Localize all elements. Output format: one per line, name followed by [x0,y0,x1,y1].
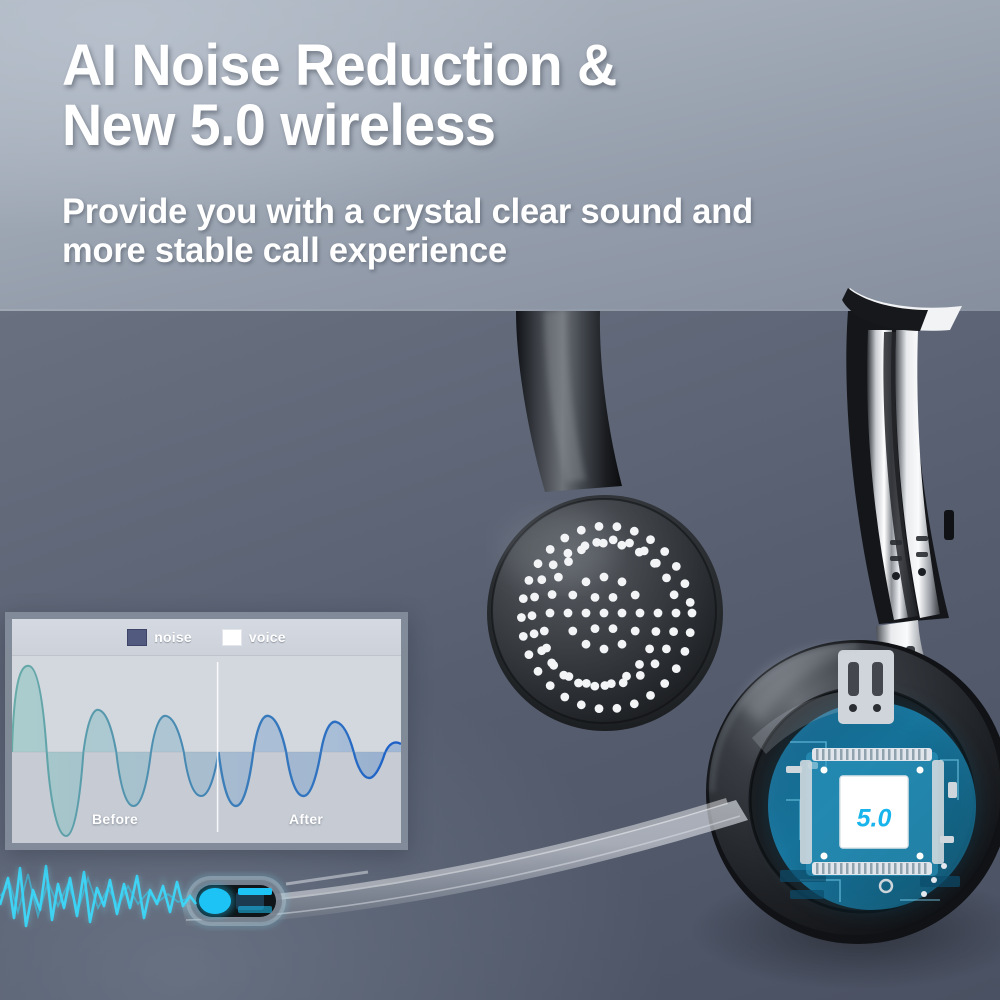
promo-banner-image: 5.0 [0,0,1000,1000]
subheadline-block: Provide you with a crystal clear sound a… [62,192,1000,270]
headband-right-arm [842,288,962,690]
voice-waveform-glow [0,866,196,926]
bluetooth-chip: 5.0 [800,748,944,876]
right-earcup: 5.0 [706,640,1000,944]
subheadline-line-1: Provide you with a crystal clear sound a… [62,192,1000,231]
legend-label-voice: voice [249,629,286,645]
headline-block: AI Noise Reduction & New 5.0 wireless [62,36,992,155]
noise-reduction-chart-panel: noise voice [5,612,408,850]
chip-version-label: 5.0 [857,805,892,833]
headline-line-1: AI Noise Reduction & [62,36,955,96]
subheadline-line-2: more stable call experience [62,231,1000,270]
legend-item-voice: voice [222,629,286,646]
legend-swatch-voice-icon [222,629,242,646]
axis-label-before: Before [92,811,138,827]
left-earcup [487,495,723,731]
legend-swatch-noise-icon [127,629,147,646]
legend-item-noise: noise [127,629,192,646]
legend-label-noise: noise [154,629,192,645]
axis-label-after: After [289,811,323,827]
headband-left-arm [516,311,622,492]
chart-legend: noise voice [12,619,401,656]
chart-axis-labels: Before After [12,811,401,833]
headline-line-2: New 5.0 wireless [62,96,955,156]
